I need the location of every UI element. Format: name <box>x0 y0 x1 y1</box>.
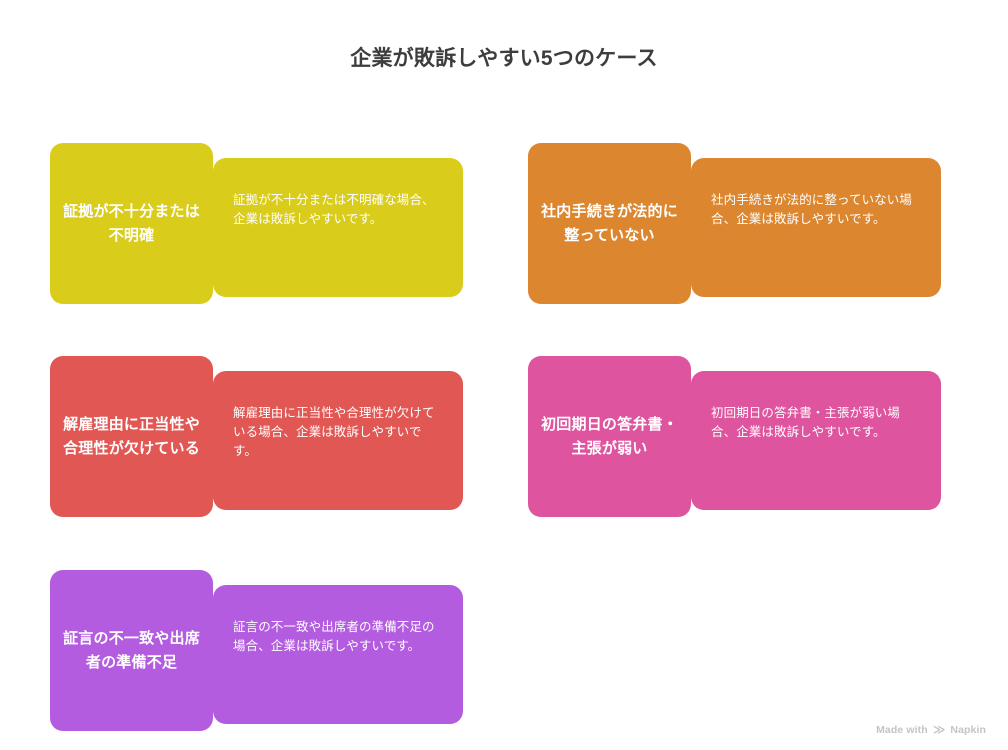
case-card-1-description: 証拠が不十分または不明確な場合、企業は敗訴しやすいです。 <box>233 191 441 229</box>
case-card-2-label-block[interactable]: 社内手続きが法的に整っていない <box>528 143 691 304</box>
case-card-3-label-block[interactable]: 解雇理由に正当性や合理性が欠けている <box>50 356 213 517</box>
case-card-3-description: 解雇理由に正当性や合理性が欠けている場合、企業は敗訴しやすいです。 <box>233 404 441 461</box>
case-card-3-description-panel: 解雇理由に正当性や合理性が欠けている場合、企業は敗訴しやすいです。 <box>213 371 463 510</box>
case-card-3-label: 解雇理由に正当性や合理性が欠けている <box>60 413 203 461</box>
case-card-2-description: 社内手続きが法的に整っていない場合、企業は敗訴しやすいです。 <box>711 191 919 229</box>
case-card-1[interactable]: 証拠が不十分または不明確な場合、企業は敗訴しやすいです。 証拠が不十分または不明… <box>50 143 463 304</box>
case-card-4-label: 初回期日の答弁書・主張が弱い <box>538 413 681 461</box>
case-card-5-description: 証言の不一致や出席者の準備不足の場合、企業は敗訴しやすいです。 <box>233 618 441 656</box>
watermark-brand: Napkin <box>950 724 986 736</box>
case-card-2[interactable]: 社内手続きが法的に整っていない場合、企業は敗訴しやすいです。 社内手続きが法的に… <box>528 143 941 304</box>
case-card-4-description: 初回期日の答弁書・主張が弱い場合、企業は敗訴しやすいです。 <box>711 404 919 442</box>
case-card-4-label-block[interactable]: 初回期日の答弁書・主張が弱い <box>528 356 691 517</box>
case-card-5-label-block[interactable]: 証言の不一致や出席者の準備不足 <box>50 570 213 731</box>
case-card-5-label: 証言の不一致や出席者の準備不足 <box>60 627 203 675</box>
napkin-logo-icon: ≫ <box>933 724 946 736</box>
case-card-4[interactable]: 初回期日の答弁書・主張が弱い場合、企業は敗訴しやすいです。 初回期日の答弁書・主… <box>528 356 941 517</box>
case-card-1-label-block[interactable]: 証拠が不十分または不明確 <box>50 143 213 304</box>
case-card-5-description-panel: 証言の不一致や出席者の準備不足の場合、企業は敗訴しやすいです。 <box>213 585 463 724</box>
watermark-prefix: Made with <box>876 724 928 736</box>
case-card-4-description-panel: 初回期日の答弁書・主張が弱い場合、企業は敗訴しやすいです。 <box>691 371 941 510</box>
case-card-5[interactable]: 証言の不一致や出席者の準備不足の場合、企業は敗訴しやすいです。 証言の不一致や出… <box>50 570 463 731</box>
case-card-1-label: 証拠が不十分または不明確 <box>60 200 203 248</box>
napkin-watermark: Made with ≫ Napkin <box>876 724 986 736</box>
case-card-3[interactable]: 解雇理由に正当性や合理性が欠けている場合、企業は敗訴しやすいです。 解雇理由に正… <box>50 356 463 517</box>
cards-grid: 証拠が不十分または不明確な場合、企業は敗訴しやすいです。 証拠が不十分または不明… <box>50 143 970 723</box>
page-title: 企業が敗訴しやすい5つのケース <box>0 44 1008 74</box>
case-card-2-description-panel: 社内手続きが法的に整っていない場合、企業は敗訴しやすいです。 <box>691 158 941 297</box>
case-card-1-description-panel: 証拠が不十分または不明確な場合、企業は敗訴しやすいです。 <box>213 158 463 297</box>
case-card-2-label: 社内手続きが法的に整っていない <box>538 200 681 248</box>
